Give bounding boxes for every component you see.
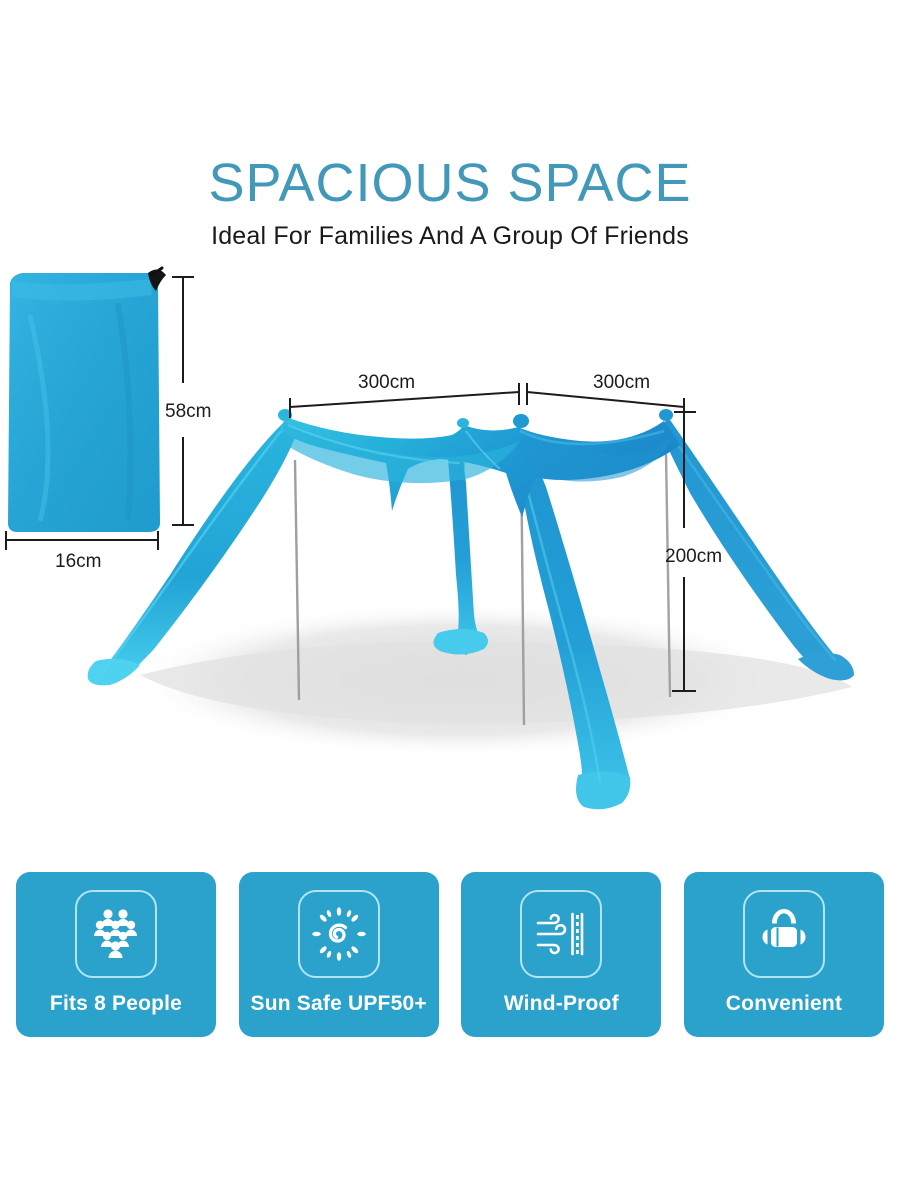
sun-spiral-icon (310, 905, 368, 963)
bag-height-label: 58cm (165, 401, 211, 422)
feature-card-fits-8-people[interactable]: Fits 8 People (16, 872, 216, 1037)
feature-icon-frame (520, 890, 602, 978)
bag-height-dimension: 58cm (165, 277, 211, 525)
page-title: SPACIOUS SPACE (0, 155, 900, 212)
feature-card-sun-safe[interactable]: Sun Safe UPF50+ (239, 872, 439, 1037)
bag-width-label: 16cm (55, 551, 101, 572)
feature-card-wind-proof[interactable]: Wind-Proof (461, 872, 661, 1037)
span-left-label: 300cm (358, 372, 415, 393)
canopy-fabric (278, 409, 680, 517)
page-subtitle: Ideal For Families And A Group Of Friend… (0, 222, 900, 251)
feature-card-convenient[interactable]: Convenient (684, 872, 884, 1037)
canopy-height-label: 200cm (665, 546, 722, 567)
feature-icon-frame (298, 890, 380, 978)
product-illustration: 58cm 16cm (0, 255, 900, 855)
ground-shadow (130, 602, 852, 758)
header-block: SPACIOUS SPACE Ideal For Families And A … (0, 155, 900, 251)
feature-label: Fits 8 People (50, 992, 182, 1016)
wind-barrier-icon (532, 905, 590, 963)
feature-label: Sun Safe UPF50+ (251, 992, 427, 1016)
feature-label: Convenient (726, 992, 842, 1016)
bag-width-dimension: 16cm (6, 531, 158, 572)
feature-icon-frame (75, 890, 157, 978)
span-left-dimension: 300cm (290, 372, 519, 418)
feature-card-row: Fits 8 People (16, 872, 884, 1037)
feature-icon-frame (743, 890, 825, 978)
duffel-bag-icon (755, 905, 813, 963)
span-right-label: 300cm (593, 372, 650, 393)
carry-bag (8, 268, 166, 532)
feature-label: Wind-Proof (504, 992, 619, 1016)
people-group-icon (87, 905, 145, 963)
span-right-dimension: 300cm (527, 372, 684, 418)
